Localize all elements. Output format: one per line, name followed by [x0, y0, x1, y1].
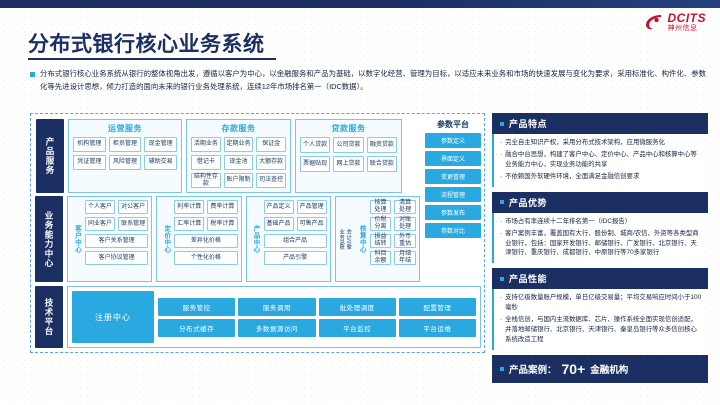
list-item: · 融合中台思想，构建了客户中心、定价中心、产品中心和核算中心等业务能力中心，实… — [500, 150, 702, 170]
chip-item[interactable]: 辅助交易 — [144, 155, 177, 170]
chip-item[interactable]: 同业客户 — [85, 217, 115, 231]
panel-product-performance: 产品性能 · 支持亿级数量账户规模，单日亿级交易量；平均交易响应时间小于100毫… — [492, 268, 708, 350]
logo-chinese-name: 神州信息 — [668, 25, 707, 32]
center-items-product: 产品定义 产品管理 基础产品 可售产品 组合产品 产品引擎 — [264, 200, 327, 278]
parameter-platform-column: 参数平台 参数定义 界面定义 变更管理 流程管理 参数发布 参数对比 — [425, 119, 481, 287]
chip-item[interactable]: 价税分离 — [370, 217, 392, 231]
center-sublabel: 业务总账 — [339, 229, 346, 250]
chip-item[interactable]: 费率计算 — [207, 200, 237, 214]
brand-logo: DCITS 神州信息 — [644, 12, 707, 32]
list-item: · 不依赖国外软硬件环境，全面满足金融信创要求 — [500, 172, 702, 182]
tech-platform-box: 注册中心 服务管控 服务调用 批处理调度 配置管理 分布式缓存 多数据源访问 平… — [67, 286, 481, 348]
panel-product-features: 产品特点 · 完全自主知识产权，采用分布式技术架构，应用微服务化 · 融合中台思… — [492, 113, 708, 187]
param-chip-item[interactable]: 参数定义 — [425, 133, 481, 148]
dcits-swirl-icon — [644, 12, 664, 32]
list-item-text: 支持亿级数量账户规模，单日亿级交易量；平均交易响应时间小于100毫秒 — [505, 293, 702, 313]
chip-item[interactable]: 柜员管理 — [109, 137, 142, 152]
tech-items-grid: 服务管控 服务调用 批处理调度 配置管理 分布式缓存 多数据源访问 平台监控 平… — [158, 291, 476, 343]
tech-chip-item[interactable]: 配置管理 — [399, 298, 476, 316]
list-item: · 全栈信创，与国内主流数据库、芯片、操作系统全面实现信创适配，并落地邮储银行、… — [500, 315, 702, 345]
case-banner: 产品案例： 70+ 金融机构 — [492, 355, 708, 383]
param-chip-item[interactable]: 界面定义 — [425, 151, 481, 166]
chip-item[interactable]: 清算处理 — [394, 200, 416, 214]
case-number: 70+ — [562, 361, 586, 377]
chip-item[interactable]: 客户关系管理 — [85, 234, 148, 248]
chip-item[interactable]: 现金池 — [224, 155, 254, 170]
square-bullet-icon — [500, 367, 504, 371]
list-item-text: 全栈信创，与国内主流数据库、芯片、操作系统全面实现信创适配，并落地邮储银行、北京… — [505, 315, 702, 345]
chip-item[interactable]: 现金管理 — [144, 137, 177, 152]
group-deposit-services: 存款服务 活期业务 定期业务 保证金 借记卡 现金池 大额存款 结构性存款 账户… — [186, 119, 291, 193]
group-title-operation: 运营服务 — [73, 123, 177, 134]
param-chip-item[interactable]: 变更管理 — [425, 169, 481, 184]
square-bullet-icon — [500, 200, 504, 204]
center-name-pricing: 定价中心 — [160, 200, 171, 278]
chip-item[interactable]: 产品定义 — [264, 200, 294, 214]
case-label: 产品案例： — [509, 362, 557, 376]
band-tech-platform: 技术平台 注册中心 服务管控 服务调用 批处理调度 配置管理 分布式缓存 多数据… — [35, 286, 481, 348]
right-info-column: 产品特点 · 完全自主知识产权，采用分布式技术架构，应用微服务化 · 融合中台思… — [492, 113, 708, 383]
dot-bullet-icon: · — [500, 150, 502, 170]
intro-paragraph: 分布式银行核心业务系统从银行的整体视角出发，遵循以客户为中心，以金融服务和产品为… — [30, 68, 706, 94]
chip-item[interactable]: 风险管理 — [109, 155, 142, 170]
chip-item[interactable]: 结构性存款 — [191, 173, 221, 188]
group-title-loan: 贷款服务 — [300, 123, 397, 134]
list-item-text: 客户案例丰富，覆盖国有大行、股份制、城商/农信、外资等各类型商业银行，包括：国家… — [505, 229, 702, 259]
chip-item[interactable]: 对公客户 — [118, 200, 148, 214]
tech-chip-item[interactable]: 批处理调度 — [319, 298, 396, 316]
panel-header-product-performance: 产品性能 — [492, 268, 708, 289]
panel-body-product-performance: · 支持亿级数量账户规模，单日亿级交易量；平均交易响应时间小于100毫秒 · 全… — [492, 289, 708, 350]
square-bullet-icon — [500, 122, 504, 126]
square-bullet-icon — [500, 277, 504, 281]
chip-item[interactable]: 大额存款 — [256, 155, 286, 170]
chip-item[interactable]: 机构管理 — [73, 137, 106, 152]
group-operation-services: 运营服务 机构管理 柜员管理 现金管理 凭证管理 风险管理 辅助交易 — [68, 119, 182, 193]
center-name-accounting: 核算中心 — [356, 200, 367, 278]
chip-item[interactable]: 票据贴现 — [300, 156, 330, 172]
center-items-customer: 个人客户 对公客户 同业客户 联系管理 客户关系管理 客户协议管理 — [85, 200, 148, 278]
list-item-text: 不依赖国外软硬件环境，全面满足金融信创要求 — [505, 172, 639, 182]
panel-title: 产品性能 — [509, 272, 547, 285]
chip-item[interactable]: 联系管理 — [118, 217, 148, 231]
center-customer: 客户中心 个人客户 对公客户 同业客户 联系管理 客户关系管理 客户协议管理 — [67, 196, 152, 282]
logo-wordmark: DCITS — [668, 12, 707, 24]
center-name-product: 产品中心 — [250, 200, 261, 278]
chip-item[interactable]: 对账处理 — [394, 217, 416, 231]
group-title-deposit: 存款服务 — [191, 123, 286, 134]
panel-body-product-features: · 完全自主知识产权，采用分布式技术架构，应用微服务化 · 融合中台思想，构建了… — [492, 134, 708, 187]
list-item-text: 融合中台思想，构建了客户中心、定价中心、产品中心和核算中心等业务能力中心，实现业… — [505, 150, 702, 170]
band-label-tech-platform: 技术平台 — [35, 286, 63, 348]
tech-chip-item[interactable]: 平台运维 — [399, 319, 476, 337]
panel-title: 产品优势 — [509, 196, 547, 209]
tech-chip-item[interactable]: 服务调用 — [238, 298, 315, 316]
tech-chip-item[interactable]: 服务管控 — [158, 298, 235, 316]
chip-item[interactable]: 凭证管理 — [73, 155, 106, 170]
center-name-customer: 客户中心 — [71, 200, 82, 278]
chip-item[interactable]: 借记卡 — [191, 155, 221, 170]
list-item: · 市场占有率连续十二年排名第一（IDC报告） — [500, 217, 702, 227]
list-item: · 完全自主知识产权，采用分布式技术架构，应用微服务化 — [500, 138, 702, 148]
tech-chip-item[interactable]: 多数据源访问 — [238, 319, 315, 337]
chip-item[interactable]: 个性化价格 — [174, 251, 237, 265]
band-ability-centers: 业务能力中心 客户中心 个人客户 对公客户 同业客户 联系管理 客户关系管理 客… — [35, 196, 420, 282]
chip-item[interactable]: 账户限制 — [224, 173, 254, 188]
band-product-services: 产品服务 运营服务 机构管理 柜员管理 现金管理 凭证管理 风险管理 辅助交易 … — [36, 119, 479, 193]
list-item-text: 完全自主知识产权，采用分布式技术架构，应用微服务化 — [505, 138, 665, 148]
case-suffix: 金融机构 — [590, 362, 628, 376]
list-item: · 支持亿级数量账户规模，单日亿级交易量；平均交易响应时间小于100毫秒 — [500, 293, 702, 313]
panel-title: 产品特点 — [509, 117, 547, 130]
chip-item[interactable]: 司法查控 — [256, 173, 286, 188]
intro-text: 分布式银行核心业务系统从银行的整体视角出发，遵循以客户为中心，以金融服务和产品为… — [40, 68, 706, 94]
chip-item[interactable]: 融资贷款 — [367, 137, 397, 153]
top-accent-bar — [0, 0, 720, 8]
center-sublabel: 会计引擎 — [346, 229, 353, 250]
chip-item[interactable]: 个人客户 — [85, 200, 115, 214]
chip-item[interactable]: 汇率计算 — [174, 217, 204, 231]
param-chip-item[interactable]: 流程管理 — [425, 187, 481, 202]
list-item: · 客户案例丰富，覆盖国有大行、股份制、城商/农信、外资等各类型商业银行，包括：… — [500, 229, 702, 259]
chip-item[interactable]: 利率计算 — [174, 200, 204, 214]
list-item-text: 市场占有率连续十二年排名第一（IDC报告） — [505, 217, 631, 227]
chip-item[interactable]: 可售产品 — [297, 217, 327, 231]
center-items-pricing: 利率计算 费率计算 汇率计算 税率计算 差异化价格 个性化价格 — [174, 200, 237, 278]
param-chip-item[interactable]: 参数对比 — [425, 223, 481, 238]
panel-body-product-advantages: · 市场占有率连续十二年排名第一（IDC报告） · 客户案例丰富，覆盖国有大行、… — [492, 213, 708, 264]
dot-bullet-icon: · — [500, 138, 502, 148]
panel-product-advantages: 产品优势 · 市场占有率连续十二年排名第一（IDC报告） · 客户案例丰富，覆盖… — [492, 192, 708, 264]
chip-item[interactable]: 月结年结 — [394, 251, 416, 265]
chip-item[interactable]: 个人贷款 — [300, 137, 330, 153]
band-label-product-services: 产品服务 — [36, 119, 64, 193]
chip-item[interactable]: 保证金 — [256, 137, 286, 152]
center-sublabels-accounting: 会计引擎 业务总账 — [339, 200, 353, 278]
chip-item[interactable]: 客户协议管理 — [85, 251, 148, 265]
center-items-accounting: 核算处理 清算处理 价税分离 对账处理 损益结转 外币重估 科目余额 月结年结 — [370, 200, 416, 278]
page-title: 分布式银行核心业务系统 — [28, 28, 265, 58]
panel-header-product-features: 产品特点 — [492, 113, 708, 134]
chip-item[interactable]: 差异化价格 — [174, 234, 237, 248]
dot-bullet-icon: · — [500, 315, 502, 345]
chip-list-deposit: 活期业务 定期业务 保证金 借记卡 现金池 大额存款 结构性存款 账户限制 司法… — [191, 137, 286, 188]
tech-chip-item[interactable]: 平台监控 — [319, 319, 396, 337]
tech-registry-center[interactable]: 注册中心 — [72, 291, 154, 343]
dot-bullet-icon: · — [500, 217, 502, 227]
parameter-platform-list: 参数定义 界面定义 变更管理 流程管理 参数发布 参数对比 — [425, 133, 481, 238]
chip-item[interactable]: 税率计算 — [207, 217, 237, 231]
chip-item[interactable]: 公司贷款 — [333, 137, 363, 153]
dot-bullet-icon: · — [500, 229, 502, 259]
tech-chip-item[interactable]: 分布式缓存 — [158, 319, 235, 337]
chip-item[interactable]: 产品管理 — [297, 200, 327, 214]
center-product: 产品中心 产品定义 产品管理 基础产品 可售产品 组合产品 产品引擎 — [246, 196, 331, 282]
dot-bullet-icon: · — [500, 172, 502, 182]
chip-item[interactable]: 基础产品 — [264, 217, 294, 231]
center-accounting: 会计引擎 业务总账 核算中心 核算处理 清算处理 价税分离 对账处理 损益结转 … — [335, 196, 420, 282]
chip-item[interactable]: 产品引擎 — [264, 251, 327, 265]
chip-item[interactable]: 核算处理 — [370, 200, 392, 214]
center-pricing: 定价中心 利率计算 费率计算 汇率计算 税率计算 差异化价格 个性化价格 — [156, 196, 241, 282]
chip-item[interactable]: 活期业务 — [191, 137, 221, 152]
intro-bullet-icon — [30, 72, 35, 77]
chip-item[interactable]: 科目余额 — [370, 251, 392, 265]
chip-item[interactable]: 组合产品 — [264, 234, 327, 248]
chip-list-operation: 机构管理 柜员管理 现金管理 凭证管理 风险管理 辅助交易 — [73, 137, 177, 170]
parameter-platform-title: 参数平台 — [437, 119, 469, 130]
panel-header-product-advantages: 产品优势 — [492, 192, 708, 213]
dot-bullet-icon: · — [500, 293, 502, 313]
chip-item[interactable]: 联合贷款 — [367, 156, 397, 172]
chip-item[interactable]: 外币重估 — [394, 234, 416, 248]
chip-item[interactable]: 损益结转 — [370, 234, 392, 248]
title-underline — [28, 58, 276, 60]
chip-list-loan: 个人贷款 公司贷款 融资贷款 票据贴现 网上贷款 联合贷款 — [300, 137, 397, 172]
group-loan-services: 贷款服务 个人贷款 公司贷款 融资贷款 票据贴现 网上贷款 联合贷款 — [295, 119, 402, 193]
band-label-ability-centers: 业务能力中心 — [35, 196, 63, 282]
param-chip-item[interactable]: 参数发布 — [425, 205, 481, 220]
chip-item[interactable]: 定期业务 — [224, 137, 254, 152]
chip-item[interactable]: 网上贷款 — [333, 156, 363, 172]
